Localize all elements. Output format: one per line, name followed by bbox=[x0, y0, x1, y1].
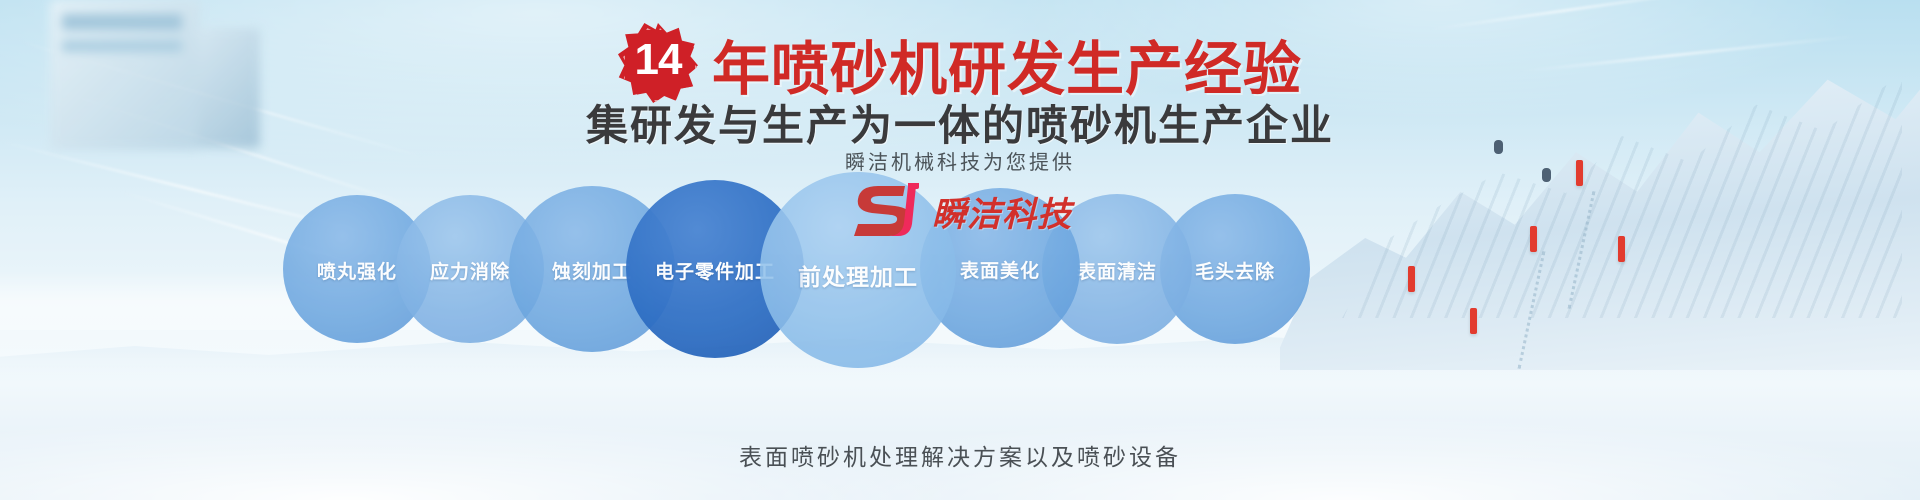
headline-2-text: 集研发与生产为一体的喷砂机生产企业 bbox=[0, 92, 1920, 153]
bottom-tagline: 表面喷砂机处理解决方案以及喷砂设备 bbox=[0, 438, 1920, 472]
subtitle-text: 瞬洁机械科技为您提供 bbox=[0, 146, 1920, 175]
promo-banner: 14 年喷砂机研发生产经验 集研发与生产为一体的喷砂机生产企业 瞬洁机械科技为您… bbox=[0, 0, 1920, 500]
years-number: 14 bbox=[618, 35, 698, 85]
logo-text: 瞬洁科技 bbox=[932, 187, 1072, 236]
snow-highlight bbox=[0, 350, 1920, 500]
company-logo: 瞬洁科技 bbox=[848, 183, 1072, 239]
service-circle-label: 前处理加工 bbox=[760, 258, 956, 292]
sj-monogram-icon bbox=[848, 183, 922, 239]
